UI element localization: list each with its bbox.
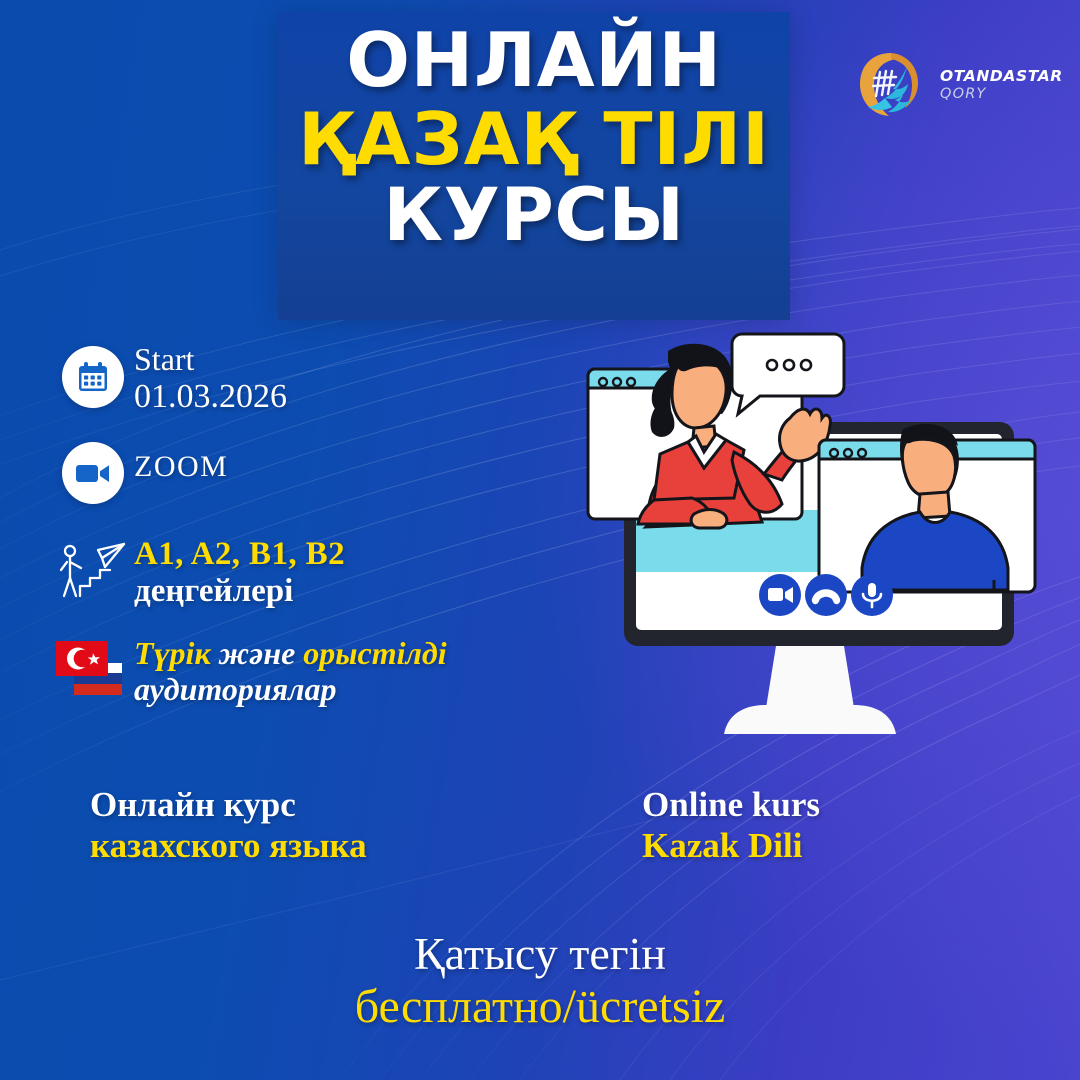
column-turkish-line-2: Kazak Dili [642, 825, 1080, 866]
logo-wordmark: OTANDASTAR QORY [940, 68, 1063, 102]
info-item-start-date: Start 01.03.2026 [52, 340, 552, 416]
footer-line-1: Қатысу тегін [0, 928, 1080, 980]
start-date-text: Start 01.03.2026 [134, 340, 287, 416]
footer-line-2: бесплатно/ücretsiz [0, 980, 1080, 1034]
video-camera-icon-wrap [52, 436, 134, 510]
turkish-russian-flags-icon-wrap [52, 634, 134, 708]
title-line-2: ҚАЗАҚ ТІЛІ [268, 104, 800, 175]
calendar-icon-wrap [52, 340, 134, 414]
column-turkish: Online kurs Kazak Dili [90, 784, 1080, 867]
calendar-icon [62, 346, 124, 408]
lang-russian: орыстілді [303, 635, 446, 671]
footer-free-notice: Қатысу тегін бесплатно/ücretsiz [0, 928, 1080, 1033]
start-label: Start [134, 342, 287, 378]
languages-text: Түрік және орыстілді аудиториялар [134, 634, 447, 708]
video-call-illustration [576, 322, 1046, 752]
lang-turkish: Түрік [134, 635, 211, 671]
info-item-levels: A1, A2, B1, B2 деңгейлері [52, 534, 552, 610]
levels-value: A1, A2, B1, B2 [134, 536, 345, 573]
levels-label: деңгейлері [134, 573, 345, 610]
logo-subtitle: QORY [940, 86, 1063, 102]
turkish-flag-icon [56, 641, 108, 676]
stairs-paperplane-icon-wrap [52, 534, 134, 608]
info-item-platform: ZOOM [52, 436, 552, 510]
turkish-russian-flags-icon [54, 635, 132, 707]
info-item-languages: Түрік және орыстілді аудиториялар [52, 634, 552, 708]
languages-value: Түрік және орыстілді [134, 636, 447, 672]
platform-text: ZOOM [134, 436, 228, 484]
logo-name: OTANDASTAR [940, 68, 1063, 85]
start-date-value: 01.03.2026 [134, 378, 287, 416]
column-turkish-line-1: Online kurs [642, 784, 1080, 825]
hangup-control-icon [805, 574, 847, 616]
platform-value: ZOOM [134, 450, 228, 484]
lang-conjunction: және [211, 635, 304, 671]
poster-canvas: ОНЛАЙН ҚАЗАҚ ТІЛІ КУРСЫ OTANDASTAR [0, 0, 1080, 1080]
video-camera-icon [62, 442, 124, 504]
title-line-1: ОНЛАЙН [268, 24, 800, 98]
poster-title: ОНЛАЙН ҚАЗАҚ ТІЛІ КУРСЫ [268, 24, 800, 252]
microphone-control-icon [851, 574, 893, 616]
camera-control-icon [759, 574, 801, 616]
title-line-3: КУРСЫ [268, 180, 800, 252]
languages-label: аудиториялар [134, 672, 447, 708]
bilingual-columns: Онлайн курс казахского языка Online kurs… [60, 784, 1020, 867]
window-man [819, 424, 1035, 592]
stairs-paperplane-icon [58, 540, 128, 602]
call-controls [759, 574, 893, 616]
ring-bird-logo-icon [852, 46, 930, 124]
levels-text: A1, A2, B1, B2 деңгейлері [134, 534, 345, 610]
course-info-list: Start 01.03.2026 ZOOM [52, 340, 552, 732]
otandastar-qory-logo: OTANDASTAR QORY [852, 44, 1052, 126]
